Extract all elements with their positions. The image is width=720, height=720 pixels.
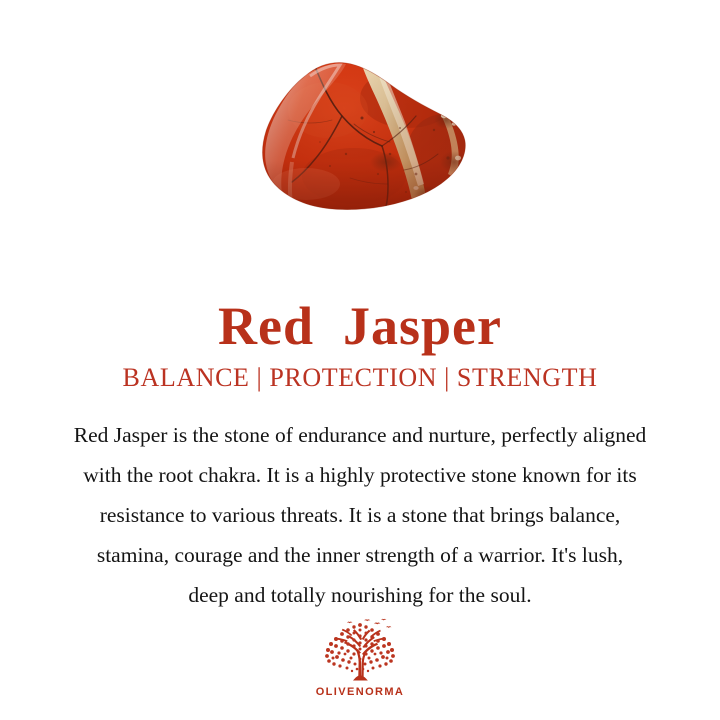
description-line: stamina, courage and the inner strength …: [0, 535, 720, 575]
description-line: Red Jasper is the stone of endurance and…: [0, 415, 720, 455]
keyword-balance: BALANCE: [123, 363, 250, 392]
keyword-strength: STRENGTH: [457, 363, 598, 392]
stone-illustration: [258, 58, 474, 216]
page-title: Red Jasper: [0, 298, 720, 355]
keyword-protection: PROTECTION: [269, 363, 437, 392]
description-line: resistance to various threats. It is a s…: [0, 495, 720, 535]
product-info-card: Red Jasper BALANCE|PROTECTION|STRENGTH R…: [0, 0, 720, 720]
keyword-separator-2: |: [437, 362, 457, 393]
red-jasper-stone-image: [258, 58, 474, 216]
description-line: with the root chakra. It is a highly pro…: [0, 455, 720, 495]
brand-name: OLIVENORMA: [316, 686, 405, 698]
keyword-line: BALANCE|PROTECTION|STRENGTH: [0, 362, 720, 393]
brand-logo[interactable]: OLIVENORMA: [0, 618, 720, 698]
tree-of-life-icon: [317, 618, 403, 684]
keyword-separator-1: |: [250, 362, 270, 393]
description-line: deep and totally nourishing for the soul…: [0, 575, 720, 615]
stone-body: [258, 58, 474, 216]
product-description: Red Jasper is the stone of endurance and…: [0, 415, 720, 615]
